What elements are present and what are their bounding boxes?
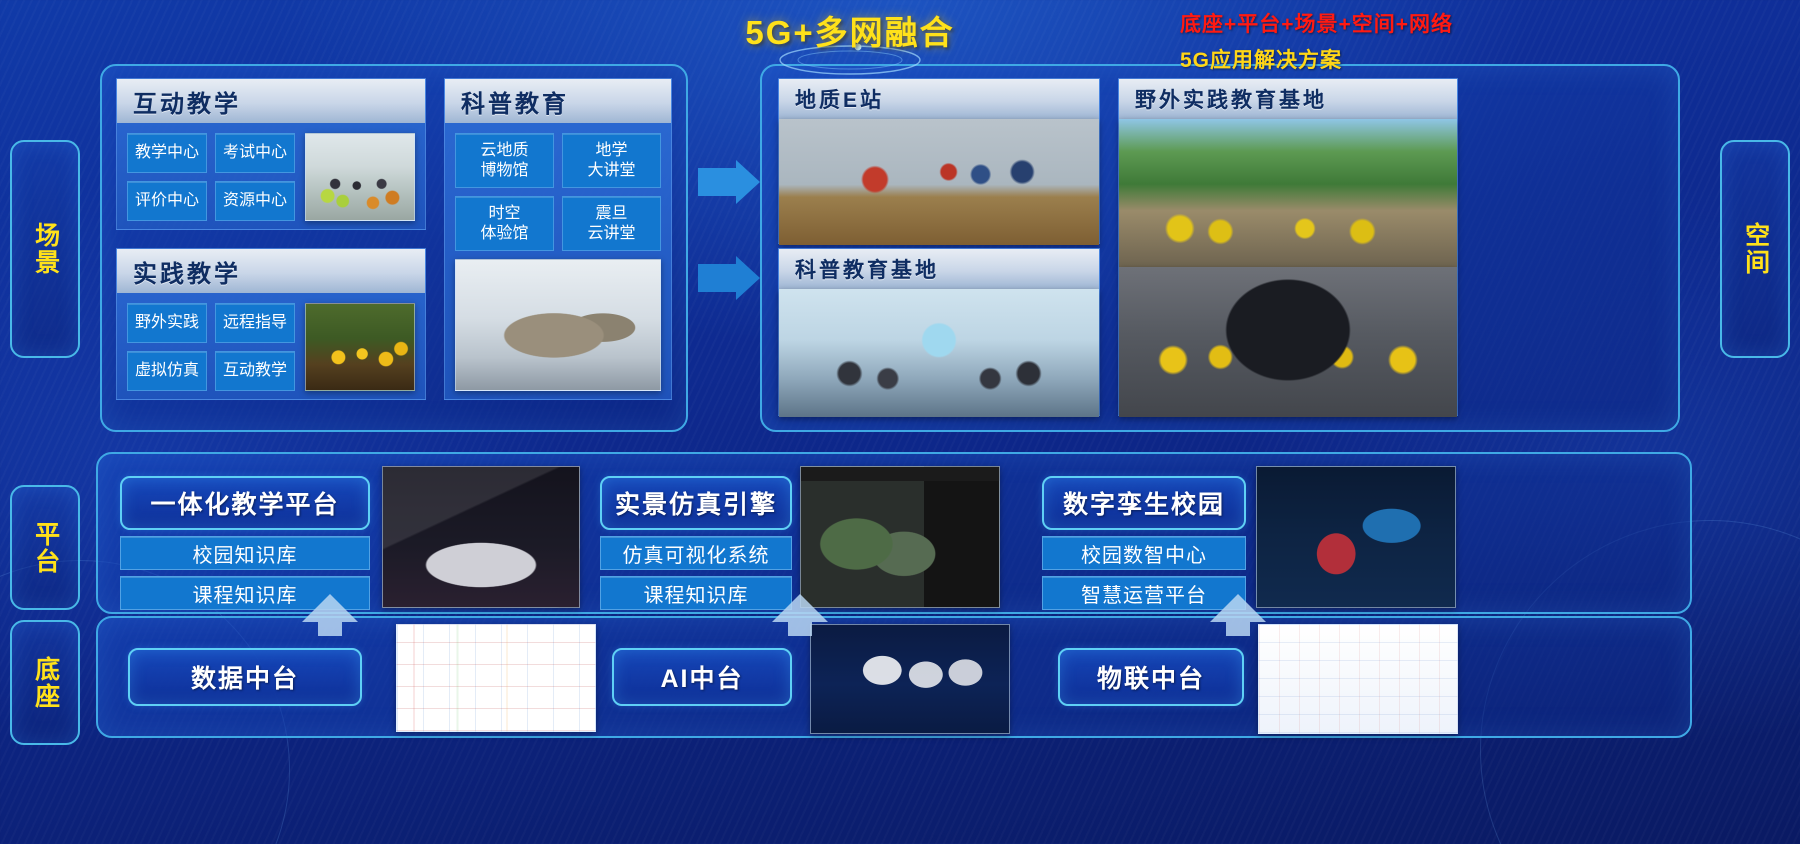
side-label-base: 底座 — [10, 620, 80, 745]
tile-zhendan-cloud-lecture[interactable]: 震旦 云讲堂 — [562, 196, 661, 251]
photo-data-architecture-diagram — [396, 624, 596, 732]
photo-iot-platform-diagram — [1258, 624, 1458, 734]
up-arrow-base-to-platform-1 — [300, 592, 360, 636]
platform-card-1-button-1[interactable]: 校园知识库 — [120, 536, 370, 570]
photo-simulation-viewer — [800, 466, 1000, 608]
subtitle-line-2: 5G应用解决方案 — [1180, 44, 1600, 74]
card-science-education-title: 科普教育 — [445, 79, 671, 123]
card-practical-teaching[interactable]: 实践教学 野外实践 远程指导 虚拟仿真 互动教学 — [116, 248, 426, 400]
tile-exam-center[interactable]: 考试中心 — [215, 133, 295, 173]
card-science-base[interactable]: 科普教育基地 — [778, 248, 1100, 416]
side-label-scene-text: 场景 — [29, 222, 60, 276]
page-title: 5G+多网融合 — [640, 6, 1060, 54]
card-practical-teaching-title: 实践教学 — [117, 249, 425, 293]
card-geology-station-title: 地质E站 — [779, 79, 1099, 119]
tile-spacetime-experience-hall[interactable]: 时空 体验馆 — [455, 196, 554, 251]
tile-teaching-center[interactable]: 教学中心 — [127, 133, 207, 173]
side-label-platform-text: 平台 — [29, 521, 60, 575]
base-card-3-title[interactable]: 物联中台 — [1058, 648, 1244, 706]
scene-to-space-arrows — [696, 160, 762, 310]
side-label-scene: 场景 — [10, 140, 80, 358]
photo-smart-classroom — [305, 133, 415, 221]
subtitle-block: 底座+平台+场景+空间+网络 5G应用解决方案 — [1180, 8, 1600, 74]
side-label-platform: 平台 — [10, 485, 80, 610]
card-interactive-teaching[interactable]: 互动教学 教学中心 考试中心 评价中心 资源中心 — [116, 78, 426, 230]
tile-field-practice[interactable]: 野外实践 — [127, 303, 207, 343]
platform-card-2-title[interactable]: 实景仿真引擎 — [600, 476, 792, 530]
diagram-canvas: 5G+多网融合 底座+平台+场景+空间+网络 5G应用解决方案 场景 空间 平台… — [0, 0, 1800, 844]
side-label-base-text: 底座 — [29, 656, 60, 710]
photo-digital-twin-campus — [1256, 466, 1456, 608]
up-arrow-base-to-platform-3 — [1208, 592, 1268, 636]
photo-science-base-hall — [779, 289, 1099, 417]
tile-interactive-teaching[interactable]: 互动教学 — [215, 351, 295, 391]
tile-geoscience-lecture-hall[interactable]: 地学 大讲堂 — [562, 133, 661, 188]
card-field-base[interactable]: 野外实践教育基地 — [1118, 78, 1458, 416]
tile-evaluation-center[interactable]: 评价中心 — [127, 181, 207, 221]
card-field-base-title: 野外实践教育基地 — [1119, 79, 1457, 119]
card-interactive-teaching-title: 互动教学 — [117, 79, 425, 123]
photo-ai-knowledge-graph — [810, 624, 1010, 734]
up-arrow-base-to-platform-2 — [770, 592, 830, 636]
side-label-space: 空间 — [1720, 140, 1790, 358]
platform-card-3-button-1[interactable]: 校园数智中心 — [1042, 536, 1246, 570]
photo-smart-classroom-render — [382, 466, 580, 608]
platform-card-2-button-2[interactable]: 课程知识库 — [600, 576, 792, 610]
photo-geology-museum — [455, 259, 661, 391]
base-card-2-title[interactable]: AI中台 — [612, 648, 792, 706]
subtitle-line-1: 底座+平台+场景+空间+网络 — [1180, 8, 1600, 38]
tile-cloud-geology-museum[interactable]: 云地质 博物馆 — [455, 133, 554, 188]
platform-card-1-title[interactable]: 一体化教学平台 — [120, 476, 370, 530]
photo-tunnel-visit — [1119, 267, 1457, 417]
platform-card-3-title[interactable]: 数字孪生校园 — [1042, 476, 1246, 530]
card-science-base-title: 科普教育基地 — [779, 249, 1099, 289]
card-geology-station[interactable]: 地质E站 — [778, 78, 1100, 244]
base-card-1-title[interactable]: 数据中台 — [128, 648, 362, 706]
card-science-education[interactable]: 科普教育 云地质 博物馆 地学 大讲堂 时空 体验馆 震旦 云讲堂 — [444, 78, 672, 400]
tile-resource-center[interactable]: 资源中心 — [215, 181, 295, 221]
tile-virtual-simulation[interactable]: 虚拟仿真 — [127, 351, 207, 391]
photo-geology-survey — [779, 119, 1099, 245]
photo-field-practice — [305, 303, 415, 391]
platform-card-2-button-1[interactable]: 仿真可视化系统 — [600, 536, 792, 570]
photo-field-education-base — [1119, 119, 1457, 267]
side-label-space-text: 空间 — [1739, 222, 1770, 276]
tile-remote-guidance[interactable]: 远程指导 — [215, 303, 295, 343]
